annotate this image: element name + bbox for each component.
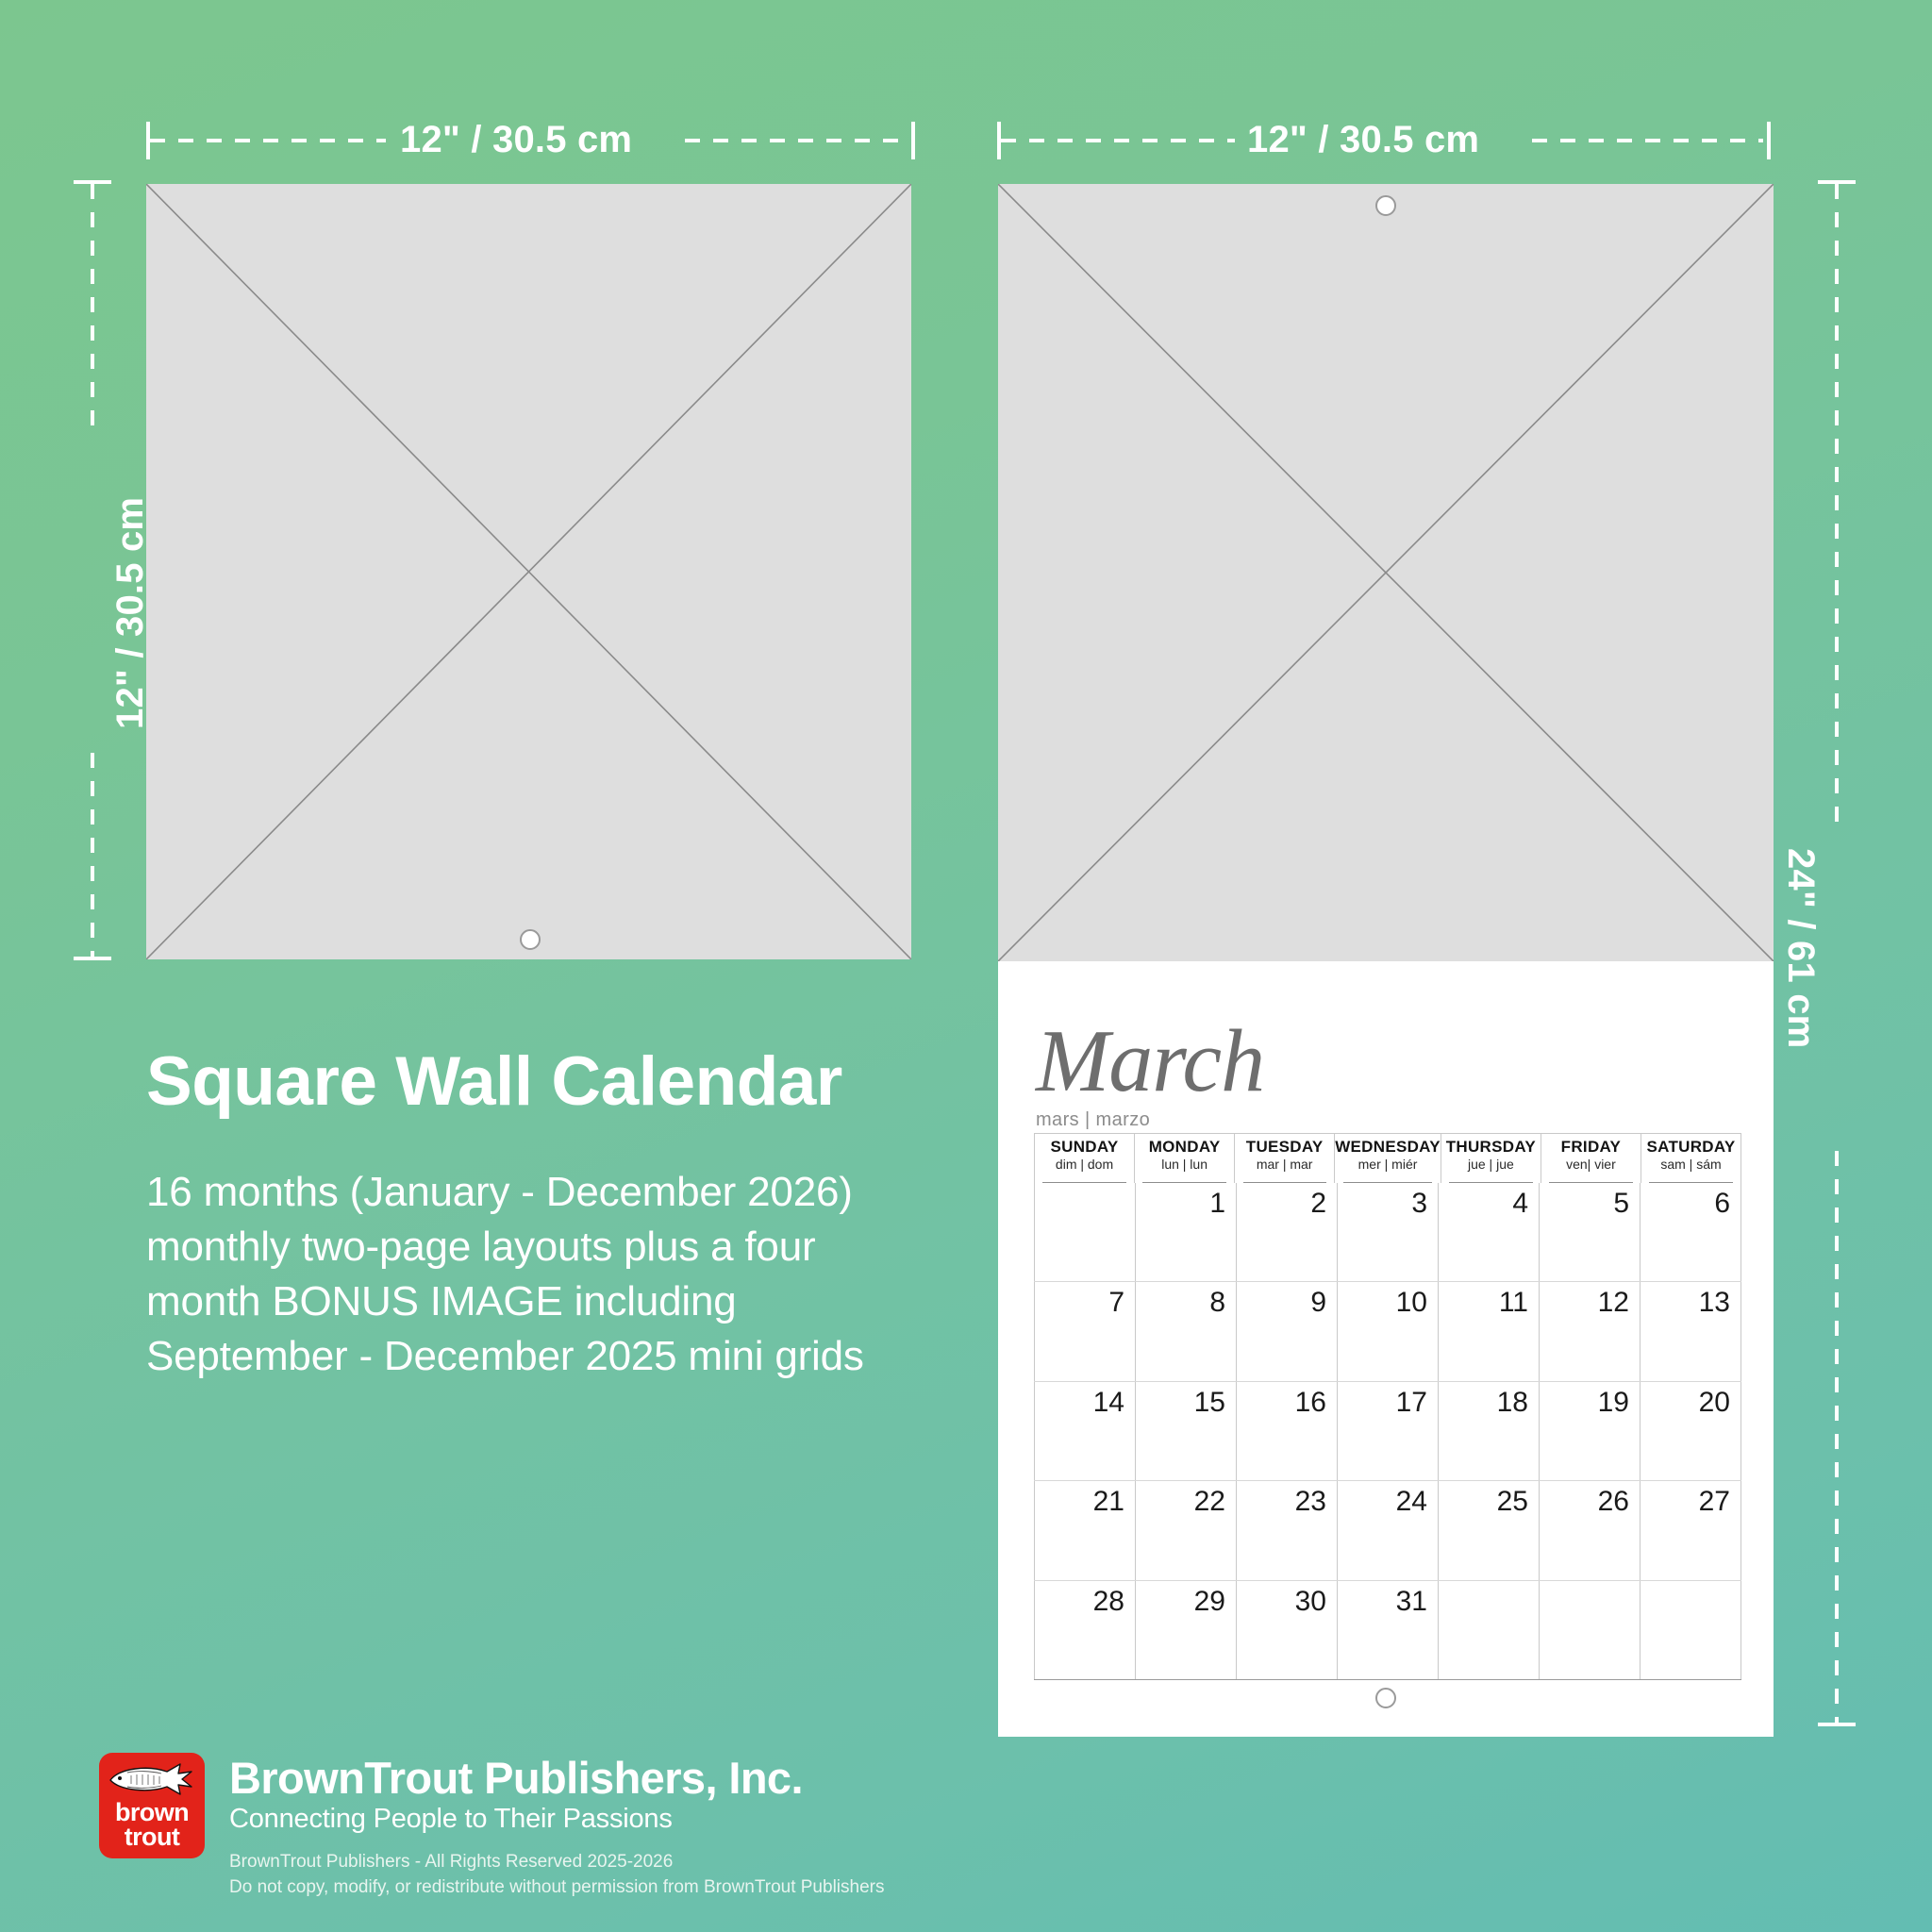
calendar-day-cell[interactable]: 13: [1640, 1282, 1741, 1380]
weekday-sublabel: lun | lun: [1135, 1157, 1234, 1173]
calendar-day-cell[interactable]: 5: [1539, 1183, 1640, 1281]
day-number: 17: [1396, 1387, 1427, 1419]
calendar-day-cell[interactable]: 7: [1034, 1282, 1135, 1380]
dim-tick-right: [1767, 122, 1771, 159]
calendar-day-cell[interactable]: 16: [1236, 1382, 1337, 1480]
calendar-day-cell[interactable]: 15: [1135, 1382, 1236, 1480]
day-number: 6: [1714, 1188, 1730, 1220]
weekday-sublabel: jue | jue: [1441, 1157, 1541, 1173]
day-number: 28: [1093, 1586, 1124, 1618]
day-number: 20: [1699, 1387, 1730, 1419]
day-number: 19: [1598, 1387, 1629, 1419]
day-number: 13: [1699, 1287, 1730, 1319]
day-number: 14: [1093, 1387, 1124, 1419]
day-number: 26: [1598, 1486, 1629, 1518]
weekday-label: TUESDAY: [1235, 1138, 1334, 1157]
calendar-day-cell[interactable]: 2: [1236, 1183, 1337, 1281]
trout-fish-icon: [105, 1760, 199, 1798]
calendar-week-row: 21 22 23 24 25 26 27: [1034, 1481, 1741, 1580]
day-number: 11: [1499, 1287, 1528, 1319]
legal-line-2: Do not copy, modify, or redistribute wit…: [229, 1875, 884, 1901]
calendar-weekday-saturday: SATURDAY sam | sám: [1641, 1134, 1741, 1183]
weekday-label: MONDAY: [1135, 1138, 1234, 1157]
calendar-weekday-friday: FRIDAY ven| vier: [1541, 1134, 1641, 1183]
day-number: 4: [1512, 1188, 1528, 1220]
logo-word-line-2: trout: [99, 1824, 205, 1849]
footer: brown trout BrownTrout Publishers, Inc. …: [99, 1753, 884, 1901]
day-number: 29: [1194, 1586, 1225, 1618]
calendar-day-cell[interactable]: 24: [1337, 1481, 1438, 1579]
weekday-sublabel: sam | sám: [1641, 1157, 1740, 1173]
day-number: 24: [1396, 1486, 1427, 1518]
weekday-sublabel: mer | miér: [1335, 1157, 1441, 1173]
dimension-right-label: 24" / 61 cm: [1779, 848, 1822, 1048]
hole-punch-right-panel-bottom: [1375, 1688, 1396, 1708]
calendar-week-row: 28 29 30 31: [1034, 1581, 1741, 1680]
dim-tick-right: [911, 122, 915, 159]
dim-tick-bottom: [74, 957, 111, 960]
calendar-day-cell[interactable]: 12: [1539, 1282, 1640, 1380]
dim-dash-right: [685, 139, 909, 142]
calendar-day-cell[interactable]: [1034, 1183, 1135, 1281]
dim-dash-left: [150, 139, 386, 142]
calendar-day-cell[interactable]: 21: [1034, 1481, 1135, 1579]
product-description: 16 months (January - December 2026) mont…: [146, 1165, 976, 1384]
calendar-day-cell[interactable]: 27: [1640, 1481, 1741, 1579]
calendar-page: March mars | marzo SUNDAY dim | dom MOND…: [998, 961, 1774, 1737]
dim-dash-top: [91, 184, 94, 429]
calendar-day-cell[interactable]: 10: [1337, 1282, 1438, 1380]
calendar-day-cell[interactable]: [1539, 1581, 1640, 1679]
dim-tick-bottom: [1818, 1723, 1856, 1726]
description-line-4: September - December 2025 mini grids: [146, 1329, 976, 1384]
calendar-day-cell[interactable]: 1: [1135, 1183, 1236, 1281]
day-number: 8: [1209, 1287, 1225, 1319]
calendar-week-row: 7 8 9 10 11 12 13: [1034, 1282, 1741, 1381]
weekday-label: SATURDAY: [1641, 1138, 1740, 1157]
calendar-week-row: 1 2 3 4 5 6: [1034, 1183, 1741, 1282]
day-number: 3: [1411, 1188, 1427, 1220]
calendar-top-image-placeholder: [998, 184, 1774, 961]
weekday-sublabel: dim | dom: [1035, 1157, 1134, 1173]
day-number: 21: [1093, 1486, 1124, 1518]
calendar-weekday-header-row: SUNDAY dim | dom MONDAY lun | lun TUESDA…: [1034, 1134, 1741, 1183]
day-number: 27: [1699, 1486, 1730, 1518]
placeholder-cross-icon: [998, 184, 1774, 961]
day-number: 2: [1310, 1188, 1326, 1220]
day-number: 18: [1497, 1387, 1528, 1419]
legal-line-1: BrownTrout Publishers - All Rights Reser…: [229, 1850, 884, 1875]
day-number: 31: [1396, 1586, 1427, 1618]
day-number: 15: [1194, 1387, 1225, 1419]
day-number: 16: [1295, 1387, 1326, 1419]
footer-text-block: BrownTrout Publishers, Inc. Connecting P…: [229, 1753, 884, 1901]
calendar-day-cell[interactable]: 30: [1236, 1581, 1337, 1679]
calendar-day-cell[interactable]: 4: [1438, 1183, 1539, 1281]
calendar-day-cell[interactable]: 6: [1640, 1183, 1741, 1281]
calendar-weekday-tuesday: TUESDAY mar | mar: [1234, 1134, 1334, 1183]
day-number: 22: [1194, 1486, 1225, 1518]
calendar-day-cell[interactable]: 3: [1337, 1183, 1438, 1281]
calendar-month-header: March mars | marzo: [1036, 1020, 1264, 1131]
hole-punch-right-panel-top: [1375, 195, 1396, 216]
description-line-3: month BONUS IMAGE including: [146, 1274, 976, 1329]
browntrout-logo: brown trout: [99, 1753, 205, 1858]
day-number: 23: [1295, 1486, 1326, 1518]
description-line-2: monthly two-page layouts plus a four: [146, 1220, 976, 1274]
calendar-month-translations: mars | marzo: [1036, 1109, 1264, 1131]
calendar-day-cell[interactable]: 29: [1135, 1581, 1236, 1679]
description-line-1: 16 months (January - December 2026): [146, 1165, 976, 1220]
dim-dash-right: [1532, 139, 1763, 142]
calendar-day-cell[interactable]: 18: [1438, 1382, 1539, 1480]
calendar-day-cell[interactable]: 8: [1135, 1282, 1236, 1380]
day-number: 30: [1295, 1586, 1326, 1618]
dim-dash-left: [1001, 139, 1235, 142]
calendar-day-cell[interactable]: 9: [1236, 1282, 1337, 1380]
dim-dash-top: [1835, 184, 1839, 833]
weekday-sublabel: mar | mar: [1235, 1157, 1334, 1173]
poster-canvas: 12" / 30.5 cm 12" / 30.5 cm 12" / 30.5 c…: [0, 0, 1932, 1932]
calendar-day-cell[interactable]: 17: [1337, 1382, 1438, 1480]
legal-notice: BrownTrout Publishers - All Rights Reser…: [229, 1850, 884, 1901]
brand-tagline: Connecting People to Their Passions: [229, 1804, 884, 1835]
day-number: 12: [1598, 1287, 1629, 1319]
calendar-day-cell[interactable]: 26: [1539, 1481, 1640, 1579]
logo-wordmark: brown trout: [99, 1800, 205, 1850]
day-number: 1: [1209, 1188, 1225, 1220]
day-number: 7: [1108, 1287, 1124, 1319]
cover-image-placeholder: [146, 184, 911, 959]
hole-punch-left-panel: [520, 929, 541, 950]
calendar-day-cell[interactable]: 31: [1337, 1581, 1438, 1679]
calendar-weekday-wednesday: WEDNESDAY mer | miér: [1334, 1134, 1441, 1183]
calendar-weekday-monday: MONDAY lun | lun: [1134, 1134, 1234, 1183]
calendar-day-cell[interactable]: 14: [1034, 1382, 1135, 1480]
calendar-day-cell[interactable]: 20: [1640, 1382, 1741, 1480]
day-number: 25: [1497, 1486, 1528, 1518]
calendar-day-cell[interactable]: 28: [1034, 1581, 1135, 1679]
calendar-week-row: 14 15 16 17 18 19 20: [1034, 1382, 1741, 1481]
calendar-month-name: March: [1036, 1020, 1264, 1104]
weekday-label: WEDNESDAY: [1335, 1138, 1441, 1157]
dimension-top-left-label: 12" / 30.5 cm: [400, 119, 632, 161]
day-number: 10: [1396, 1287, 1427, 1319]
calendar-day-cell[interactable]: [1438, 1581, 1539, 1679]
calendar-grid: SUNDAY dim | dom MONDAY lun | lun TUESDA…: [1034, 1133, 1741, 1680]
calendar-day-cell[interactable]: 11: [1438, 1282, 1539, 1380]
dim-dash-bottom: [1835, 1151, 1839, 1723]
dim-dash-bottom: [91, 753, 94, 957]
brand-name: BrownTrout Publishers, Inc.: [229, 1755, 884, 1802]
page-title: Square Wall Calendar: [146, 1042, 842, 1121]
calendar-day-cell[interactable]: 19: [1539, 1382, 1640, 1480]
calendar-day-cell[interactable]: [1640, 1581, 1741, 1679]
placeholder-cross-icon: [146, 184, 911, 959]
calendar-day-cell[interactable]: 22: [1135, 1481, 1236, 1579]
weekday-label: SUNDAY: [1035, 1138, 1134, 1157]
day-number: 9: [1310, 1287, 1326, 1319]
calendar-day-cell[interactable]: 25: [1438, 1481, 1539, 1579]
calendar-day-cell[interactable]: 23: [1236, 1481, 1337, 1579]
weekday-label: THURSDAY: [1441, 1138, 1541, 1157]
logo-word-line-1: brown: [99, 1800, 205, 1824]
calendar-weekday-thursday: THURSDAY jue | jue: [1441, 1134, 1541, 1183]
day-number: 5: [1613, 1188, 1629, 1220]
weekday-label: FRIDAY: [1541, 1138, 1641, 1157]
dimension-top-right-label: 12" / 30.5 cm: [1247, 119, 1479, 161]
weekday-sublabel: ven| vier: [1541, 1157, 1641, 1173]
calendar-weekday-sunday: SUNDAY dim | dom: [1034, 1134, 1134, 1183]
